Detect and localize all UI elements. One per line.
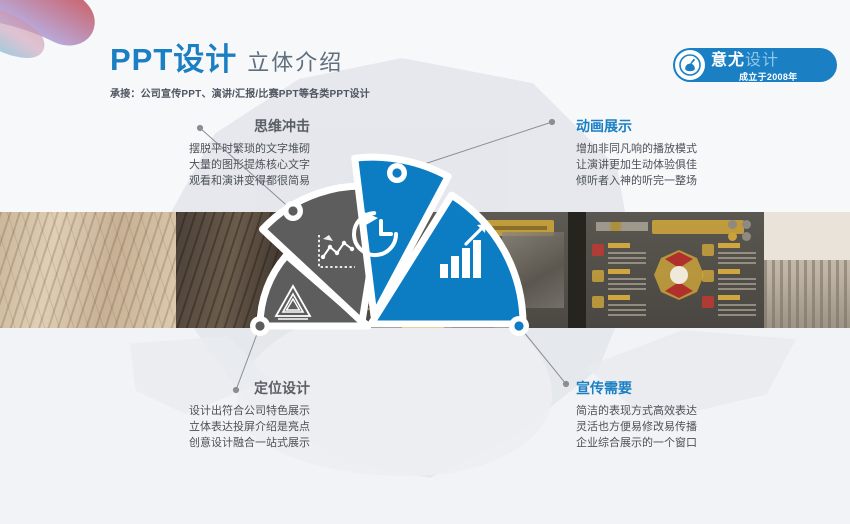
block-line: 观看和演讲变得都很简易 — [88, 173, 310, 189]
block-line: 摆脱平时繁琐的文字堆砌 — [88, 141, 310, 157]
block-heading: 定位设计 — [88, 380, 310, 397]
block-line: 灵活也方便易修改易传播 — [576, 419, 806, 435]
block-line: 倾听者入神的听完一整场 — [576, 173, 806, 189]
block-line: 创意设计融合一站式展示 — [88, 435, 310, 451]
block-heading: 思维冲击 — [88, 118, 310, 135]
text-block-xuan-chuan-xu-yao: 宣传需要 简洁的表现方式高效表达 灵活也方便易修改易传播 企业综合展示的一个窗口 — [576, 380, 806, 451]
block-line: 设计出符合公司特色展示 — [88, 403, 310, 419]
block-heading: 动画展示 — [576, 118, 806, 135]
text-block-dong-hua-zhan-shi: 动画展示 增加非同凡响的播放模式 让演讲更加生动体验俱佳 倾听者入神的听完一整场 — [576, 118, 806, 189]
slide-canvas: PPT设计 立体介绍 承接：公司宣传PPT、演讲/汇报/比赛PPT等各类PPT设… — [0, 0, 850, 524]
block-line: 企业综合展示的一个窗口 — [576, 435, 806, 451]
block-line: 立体表达投屏介绍是亮点 — [88, 419, 310, 435]
block-line: 让演讲更加生动体验俱佳 — [576, 157, 806, 173]
block-line: 增加非同凡响的播放模式 — [576, 141, 806, 157]
text-block-si-wei-chong-ji: 思维冲击 摆脱平时繁琐的文字堆砌 大量的图形提炼核心文字 观看和演讲变得都很简易 — [88, 118, 310, 189]
block-line: 大量的图形提炼核心文字 — [88, 157, 310, 173]
text-block-ding-wei-she-ji: 定位设计 设计出符合公司特色展示 立体表达投屏介绍是亮点 创意设计融合一站式展示 — [88, 380, 310, 451]
block-heading: 宣传需要 — [576, 380, 806, 397]
block-line: 简洁的表现方式高效表达 — [576, 403, 806, 419]
